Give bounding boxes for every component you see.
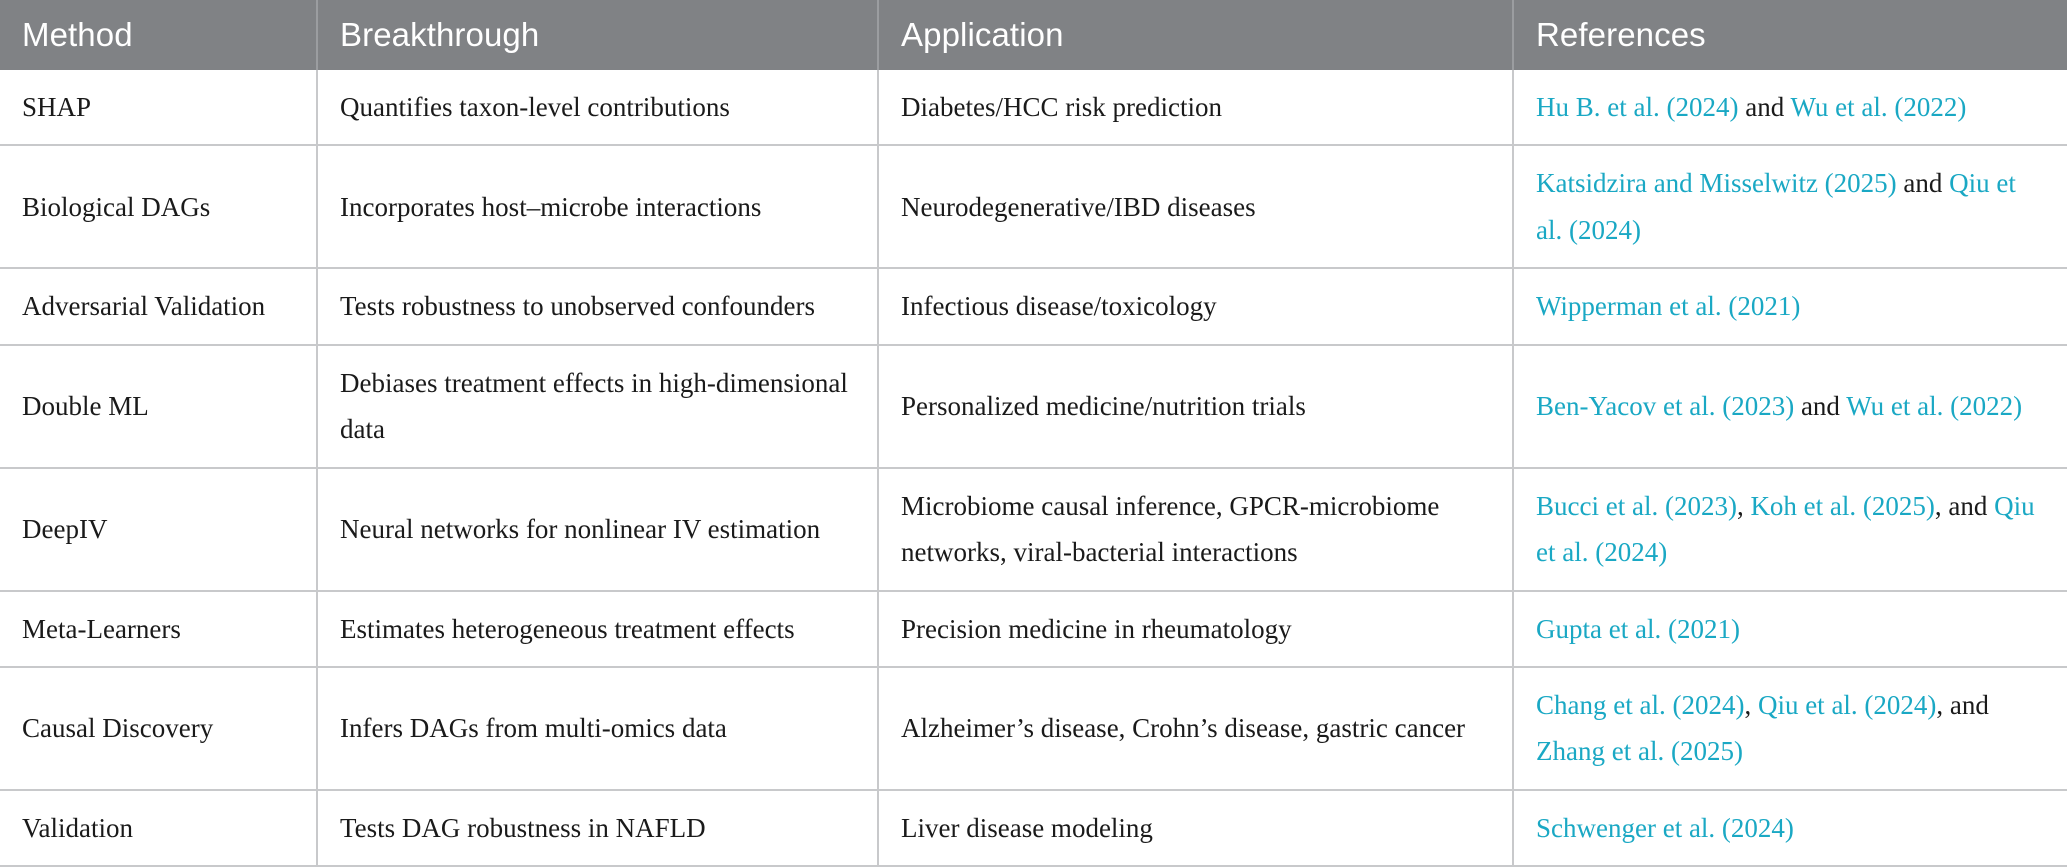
reference-link[interactable]: Chang et al. (2024) — [1536, 690, 1744, 720]
reference-link[interactable]: Qiu et al. (2024) — [1758, 690, 1936, 720]
reference-separator: , — [1744, 690, 1758, 720]
cell-references: Ben-Yacov et al. (2023) and Wu et al. (2… — [1513, 345, 2067, 468]
column-header-breakthrough: Breakthrough — [317, 0, 878, 70]
methods-table: Method Breakthrough Application Referenc… — [0, 0, 2067, 867]
column-header-references: References — [1513, 0, 2067, 70]
reference-link[interactable]: Gupta et al. (2021) — [1536, 614, 1740, 644]
cell-application: Diabetes/HCC risk prediction — [878, 70, 1513, 145]
table-row: Biological DAGsIncorporates host–microbe… — [0, 145, 2067, 268]
table-row: Double MLDebiases treatment effects in h… — [0, 345, 2067, 468]
column-header-method: Method — [0, 0, 317, 70]
cell-method: Double ML — [0, 345, 317, 468]
table-row: Meta-LearnersEstimates heterogeneous tre… — [0, 591, 2067, 667]
cell-breakthrough: Quantifies taxon-level contributions — [317, 70, 878, 145]
reference-separator: and — [1738, 92, 1790, 122]
cell-method: DeepIV — [0, 468, 317, 591]
reference-link[interactable]: Hu B. et al. (2024) — [1536, 92, 1738, 122]
cell-references: Hu B. et al. (2024) and Wu et al. (2022) — [1513, 70, 2067, 145]
cell-method: SHAP — [0, 70, 317, 145]
cell-references: Schwenger et al. (2024) — [1513, 790, 2067, 866]
cell-breakthrough: Estimates heterogeneous treatment effect… — [317, 591, 878, 667]
table-row: SHAPQuantifies taxon-level contributions… — [0, 70, 2067, 145]
cell-application: Liver disease modeling — [878, 790, 1513, 866]
reference-separator: , and — [1935, 491, 1994, 521]
cell-application: Alzheimer’s disease, Crohn’s disease, ga… — [878, 667, 1513, 790]
reference-separator: and — [1794, 391, 1846, 421]
reference-separator: , — [1737, 491, 1751, 521]
reference-link[interactable]: Schwenger et al. (2024) — [1536, 813, 1794, 843]
reference-separator: and — [1897, 168, 1949, 198]
table-row: Adversarial ValidationTests robustness t… — [0, 268, 2067, 344]
cell-breakthrough: Tests DAG robustness in NAFLD — [317, 790, 878, 866]
reference-link[interactable]: Wu et al. (2022) — [1790, 92, 1966, 122]
reference-link[interactable]: Koh et al. (2025) — [1750, 491, 1934, 521]
cell-application: Microbiome causal inference, GPCR-microb… — [878, 468, 1513, 591]
cell-breakthrough: Neural networks for nonlinear IV estimat… — [317, 468, 878, 591]
table-container: Method Breakthrough Application Referenc… — [0, 0, 2067, 867]
cell-breakthrough: Tests robustness to unobserved confounde… — [317, 268, 878, 344]
reference-link[interactable]: Wu et al. (2022) — [1846, 391, 2022, 421]
cell-application: Precision medicine in rheumatology — [878, 591, 1513, 667]
table-header: Method Breakthrough Application Referenc… — [0, 0, 2067, 70]
reference-link[interactable]: Zhang et al. (2025) — [1536, 736, 1743, 766]
reference-separator: , and — [1936, 690, 1988, 720]
reference-link[interactable]: Wipperman et al. (2021) — [1536, 291, 1800, 321]
reference-link[interactable]: Katsidzira and Misselwitz (2025) — [1536, 168, 1897, 198]
table-row: Causal DiscoveryInfers DAGs from multi-o… — [0, 667, 2067, 790]
cell-application: Infectious disease/toxicology — [878, 268, 1513, 344]
cell-breakthrough: Incorporates host–microbe interactions — [317, 145, 878, 268]
cell-application: Personalized medicine/nutrition trials — [878, 345, 1513, 468]
cell-references: Bucci et al. (2023), Koh et al. (2025), … — [1513, 468, 2067, 591]
cell-references: Katsidzira and Misselwitz (2025) and Qiu… — [1513, 145, 2067, 268]
cell-references: Wipperman et al. (2021) — [1513, 268, 2067, 344]
cell-method: Biological DAGs — [0, 145, 317, 268]
cell-method: Causal Discovery — [0, 667, 317, 790]
cell-method: Adversarial Validation — [0, 268, 317, 344]
cell-application: Neurodegenerative/IBD diseases — [878, 145, 1513, 268]
table-header-row: Method Breakthrough Application Referenc… — [0, 0, 2067, 70]
reference-link[interactable]: Ben-Yacov et al. (2023) — [1536, 391, 1794, 421]
cell-method: Meta-Learners — [0, 591, 317, 667]
table-body: SHAPQuantifies taxon-level contributions… — [0, 70, 2067, 866]
cell-breakthrough: Infers DAGs from multi-omics data — [317, 667, 878, 790]
reference-link[interactable]: Bucci et al. (2023) — [1536, 491, 1737, 521]
table-row: ValidationTests DAG robustness in NAFLDL… — [0, 790, 2067, 866]
cell-references: Gupta et al. (2021) — [1513, 591, 2067, 667]
table-row: DeepIVNeural networks for nonlinear IV e… — [0, 468, 2067, 591]
cell-breakthrough: Debiases treatment effects in high-dimen… — [317, 345, 878, 468]
column-header-application: Application — [878, 0, 1513, 70]
cell-method: Validation — [0, 790, 317, 866]
cell-references: Chang et al. (2024), Qiu et al. (2024), … — [1513, 667, 2067, 790]
